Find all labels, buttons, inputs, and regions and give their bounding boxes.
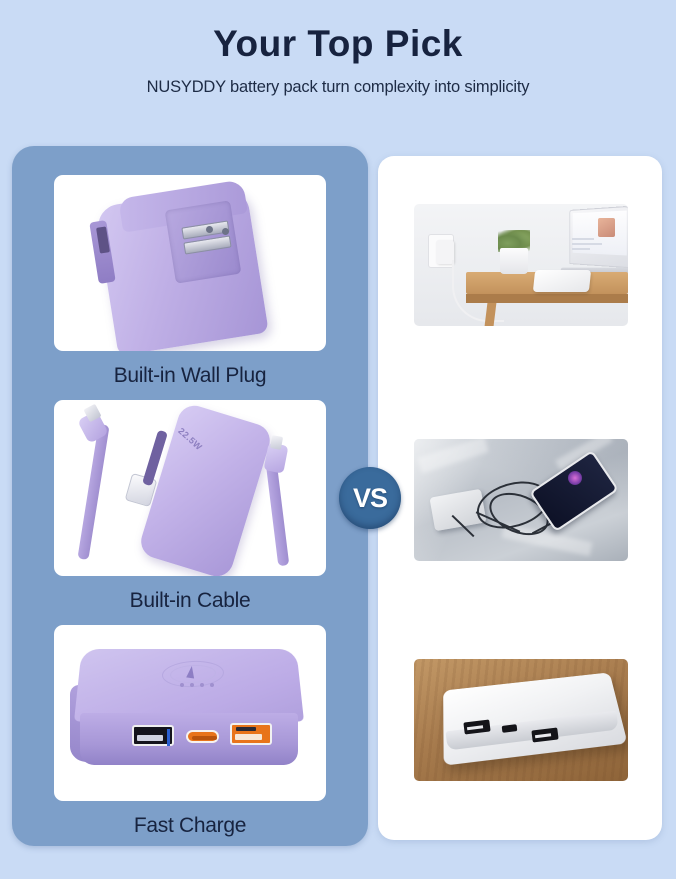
page-title: Your Top Pick bbox=[0, 0, 676, 65]
wall-plug-icon bbox=[54, 175, 326, 351]
competitor-panel bbox=[378, 156, 662, 840]
page-subtitle: NUSYDDY battery pack turn complexity int… bbox=[0, 65, 676, 97]
feature-label: Fast Charge bbox=[54, 814, 326, 838]
competitor-photo-tangled-cables bbox=[414, 439, 628, 561]
feature-card-fast-charge[interactable]: Fast Charge bbox=[54, 625, 326, 838]
usb-a-port-orange-icon bbox=[230, 723, 272, 745]
page-header: Your Top Pick NUSYDDY battery pack turn … bbox=[0, 0, 676, 140]
fast-charge-icon bbox=[54, 625, 326, 801]
feature-label: Built-in Wall Plug bbox=[54, 364, 326, 388]
product-feature-panel: Built-in Wall Plug 22.5W Built-in Cable bbox=[12, 146, 368, 846]
usb-a-port-black-icon bbox=[132, 725, 174, 746]
feature-card-built-in-cable[interactable]: 22.5W Built-in Cable bbox=[54, 400, 326, 613]
feature-label: Built-in Cable bbox=[54, 589, 326, 613]
competitor-photo-desk bbox=[414, 204, 628, 326]
feature-card-wall-plug[interactable]: Built-in Wall Plug bbox=[54, 175, 326, 388]
vs-badge: VS bbox=[339, 467, 401, 529]
vs-label: VS bbox=[353, 483, 387, 514]
cable-icon: 22.5W bbox=[54, 400, 326, 576]
usb-c-port-icon bbox=[186, 730, 219, 743]
competitor-photo-plain-power-bank bbox=[414, 659, 628, 781]
